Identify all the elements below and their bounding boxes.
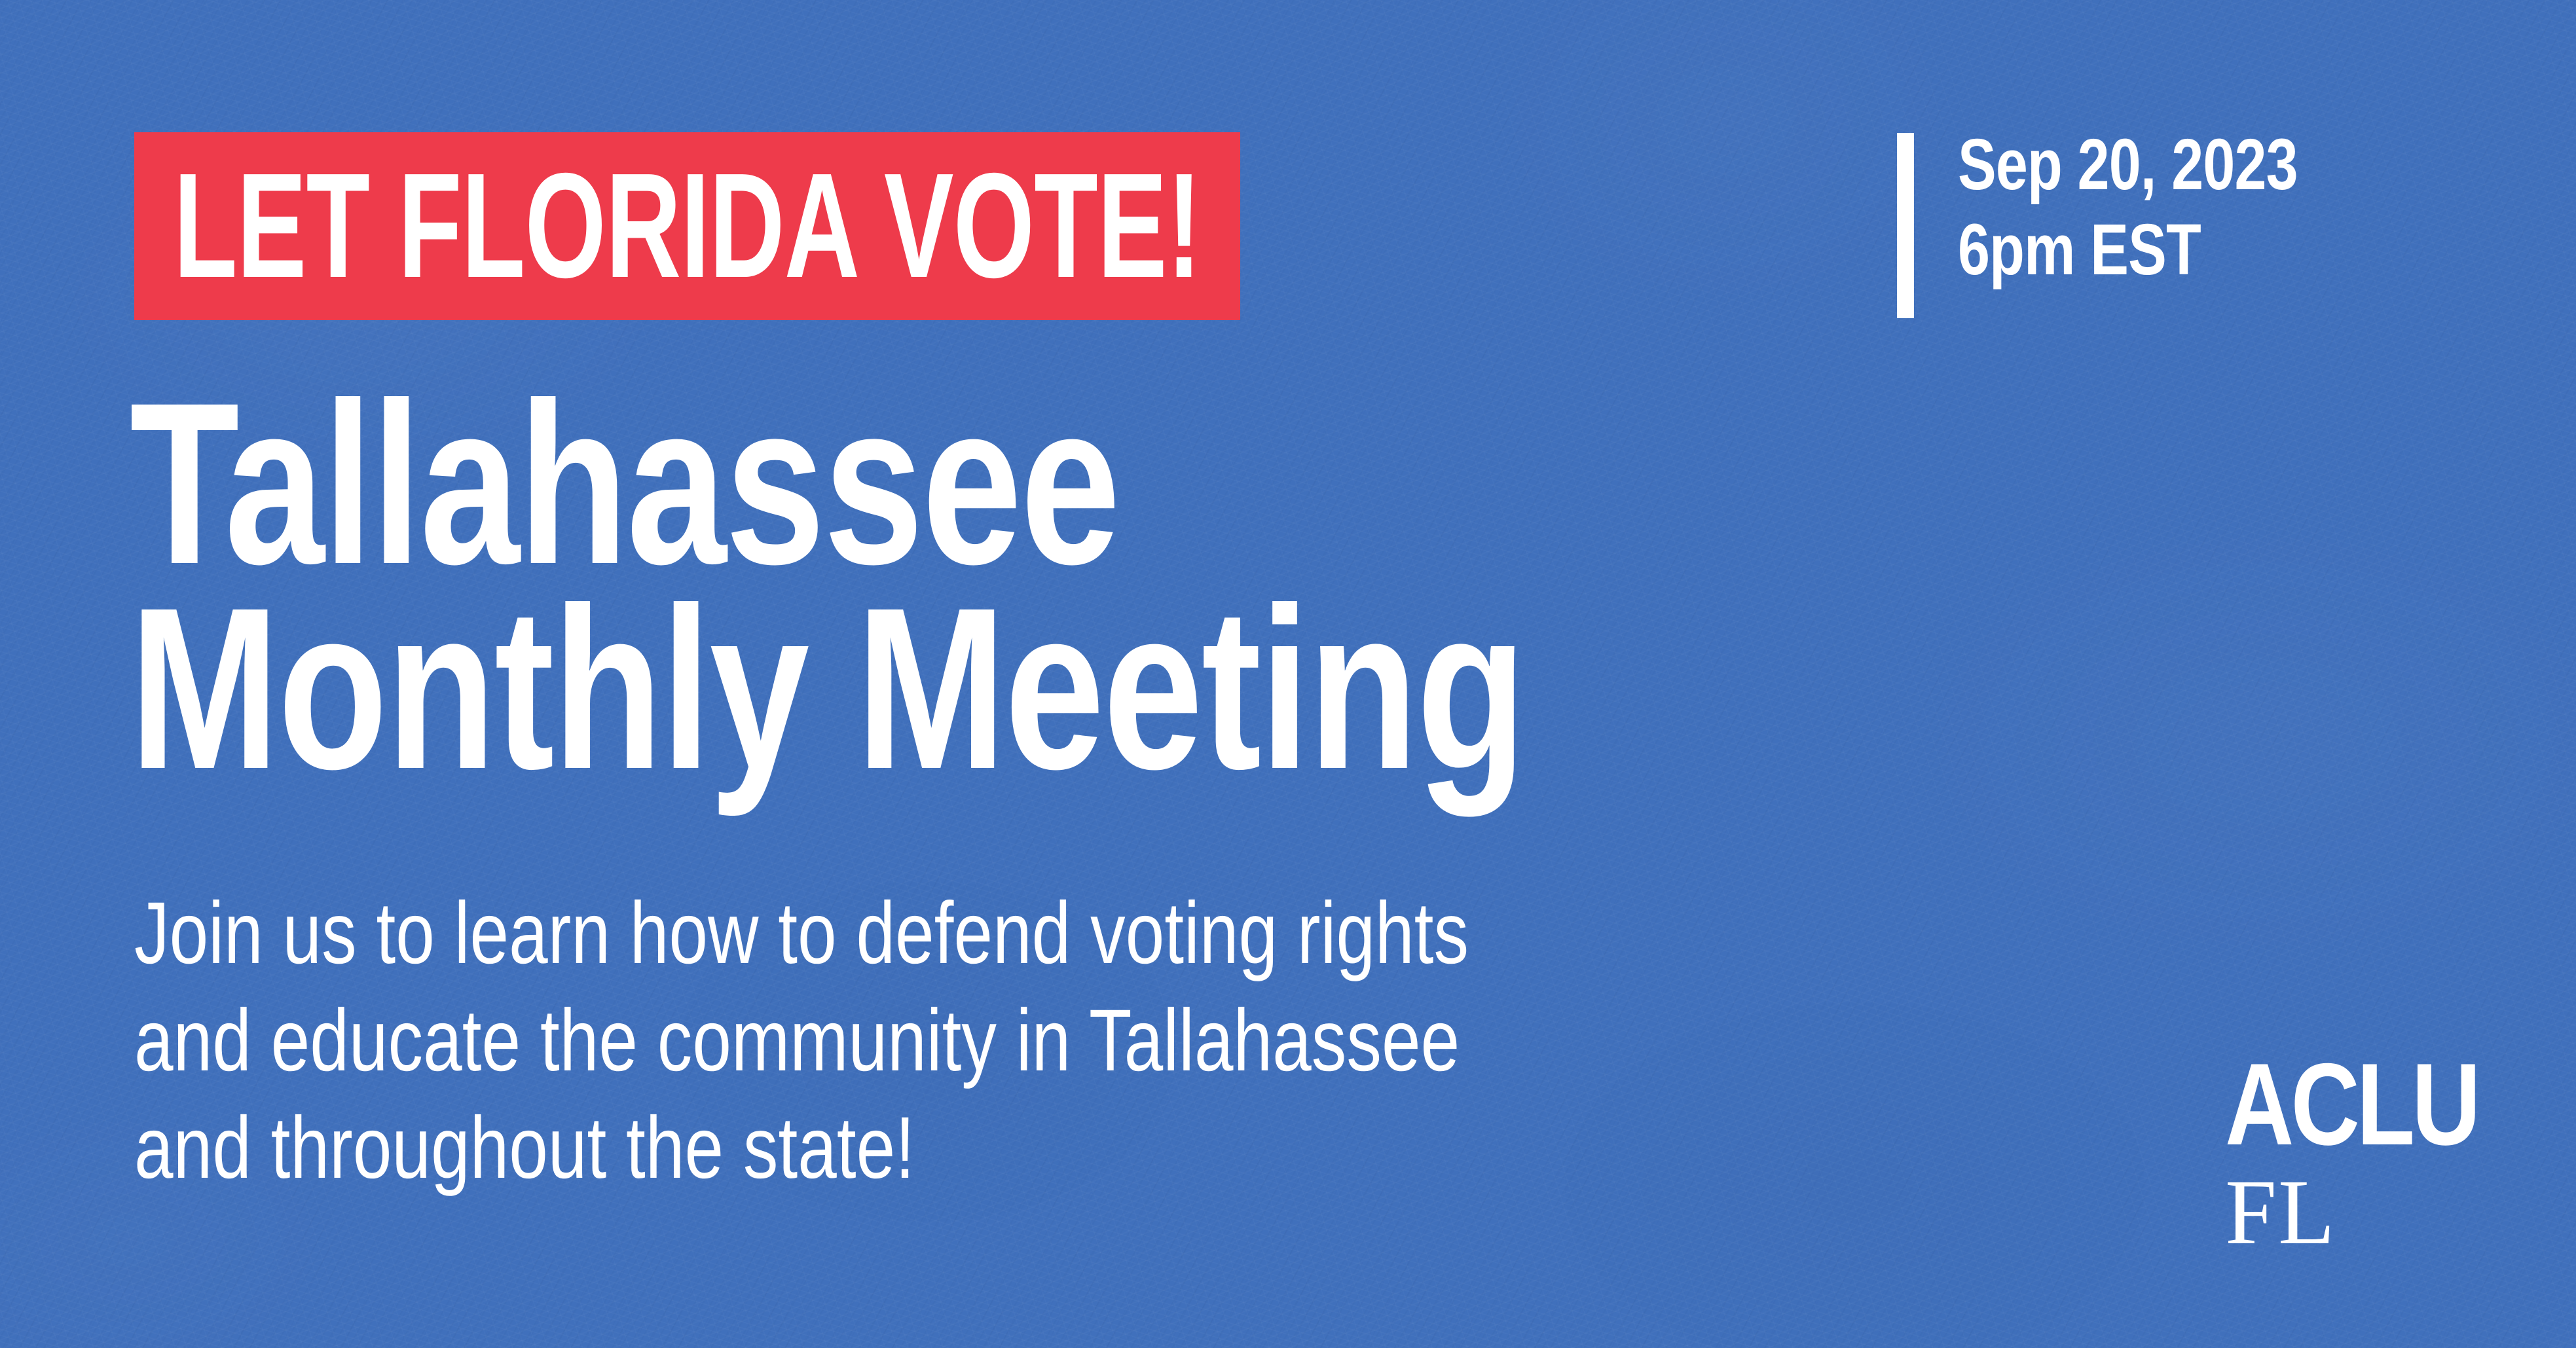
eyebrow-text: LET FLORIDA VOTE! [174, 150, 1201, 302]
body-copy: Join us to learn how to defend voting ri… [134, 880, 1803, 1202]
eyebrow-banner: LET FLORIDA VOTE! [134, 132, 1240, 320]
body-copy-line-3: and throughout the state! [134, 1095, 1469, 1202]
page-title: Tallahassee Monthly Meeting [130, 381, 1919, 791]
aclu-affiliate-label: FL [2225, 1165, 2336, 1258]
event-datetime-lines: Sep 20, 2023 6pm EST [1958, 122, 2382, 293]
aclu-fl-logo: ACLU FL [2225, 1055, 2487, 1252]
event-poster: LET FLORIDA VOTE! Sep 20, 2023 6pm EST T… [0, 0, 2576, 1348]
body-copy-line-1: Join us to learn how to defend voting ri… [134, 880, 1469, 987]
page-title-line-1: Tallahassee [130, 381, 1525, 586]
event-date: Sep 20, 2023 [1958, 122, 2298, 208]
page-title-line-2: Monthly Meeting [130, 586, 1525, 791]
aclu-wordmark: ACLU [2225, 1055, 2478, 1154]
event-time: 6pm EST [1958, 208, 2298, 293]
body-copy-line-2: and educate the community in Tallahassee [134, 987, 1469, 1095]
vertical-rule-divider [1897, 133, 1914, 318]
